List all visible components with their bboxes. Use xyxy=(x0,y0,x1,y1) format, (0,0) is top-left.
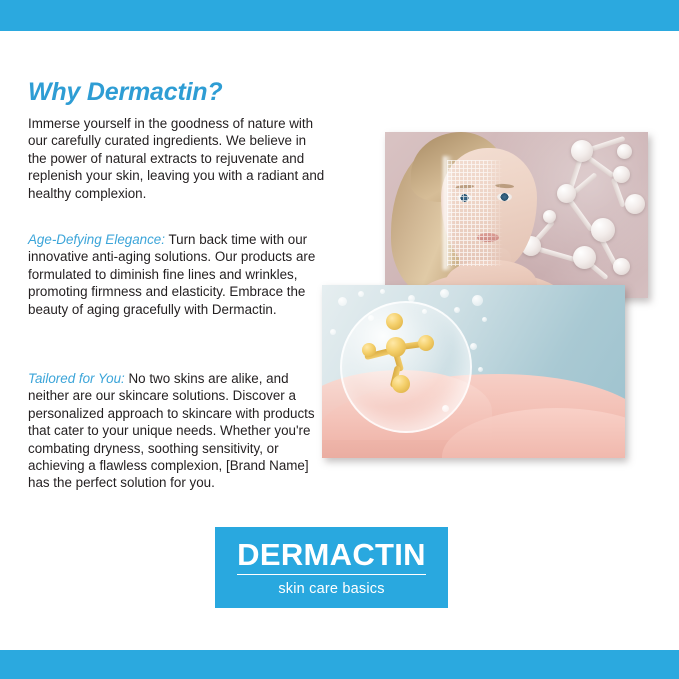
gold-molecule-node-icon xyxy=(386,337,406,357)
water-droplet-icon xyxy=(470,343,477,350)
gold-molecule-node-icon xyxy=(392,375,410,393)
water-droplet-icon xyxy=(422,309,427,314)
face-photo xyxy=(385,132,648,298)
water-droplet-icon xyxy=(482,317,487,322)
molecule-node-icon xyxy=(557,184,576,203)
water-droplet-icon xyxy=(454,307,460,313)
paragraph-intro-text: Immerse yourself in the goodness of natu… xyxy=(28,116,324,201)
bottom-accent-bar xyxy=(0,650,679,679)
face-scan-glow xyxy=(443,156,453,270)
molecule-node-icon xyxy=(613,166,630,183)
page-title: Why Dermactin? xyxy=(28,78,222,107)
water-droplet-icon xyxy=(442,405,449,412)
water-droplet-icon xyxy=(380,289,385,294)
paragraph-tailored-lead: Tailored for You: xyxy=(28,371,125,386)
water-droplet-icon xyxy=(472,295,483,306)
molecule-node-icon xyxy=(617,144,632,159)
molecule-node-icon xyxy=(543,210,556,223)
water-droplet-icon xyxy=(368,315,374,321)
water-droplet-icon xyxy=(338,297,347,306)
paragraph-age-defying-lead: Age-Defying Elegance: xyxy=(28,232,165,247)
water-droplet-icon xyxy=(478,367,483,372)
brand-name: DERMACTIN xyxy=(237,539,426,575)
molecule-node-icon xyxy=(573,246,596,269)
water-droplet-icon xyxy=(358,291,364,297)
water-droplet-icon xyxy=(408,295,415,302)
brand-tagline: skin care basics xyxy=(278,581,384,597)
serum-photo-inner xyxy=(322,285,625,458)
gold-molecule-node-icon xyxy=(386,313,403,330)
serum-photo xyxy=(322,285,625,458)
molecule-node-icon xyxy=(571,140,593,162)
molecule-node-icon xyxy=(625,194,645,214)
molecule-node-icon xyxy=(591,218,615,242)
brand-logo: DERMACTIN skin care basics xyxy=(215,527,448,608)
serum-sphere xyxy=(340,301,472,433)
face-photo-inner xyxy=(385,132,648,298)
page-canvas: Why Dermactin? Immerse yourself in the g… xyxy=(0,0,679,679)
paragraph-intro: Immerse yourself in the goodness of natu… xyxy=(28,115,328,202)
molecule-node-icon xyxy=(613,258,630,275)
paragraph-age-defying: Age-Defying Elegance: Turn back time wit… xyxy=(28,231,328,318)
water-droplet-icon xyxy=(330,329,336,335)
paragraph-tailored-text: No two skins are alike, and neither are … xyxy=(28,371,315,490)
water-droplet-icon xyxy=(440,289,449,298)
gold-molecule-node-icon xyxy=(418,335,434,351)
face-grid-overlay xyxy=(447,160,503,266)
paragraph-tailored: Tailored for You: No two skins are alike… xyxy=(28,370,328,492)
gold-molecule-node-icon xyxy=(362,343,376,357)
top-accent-bar xyxy=(0,0,679,31)
